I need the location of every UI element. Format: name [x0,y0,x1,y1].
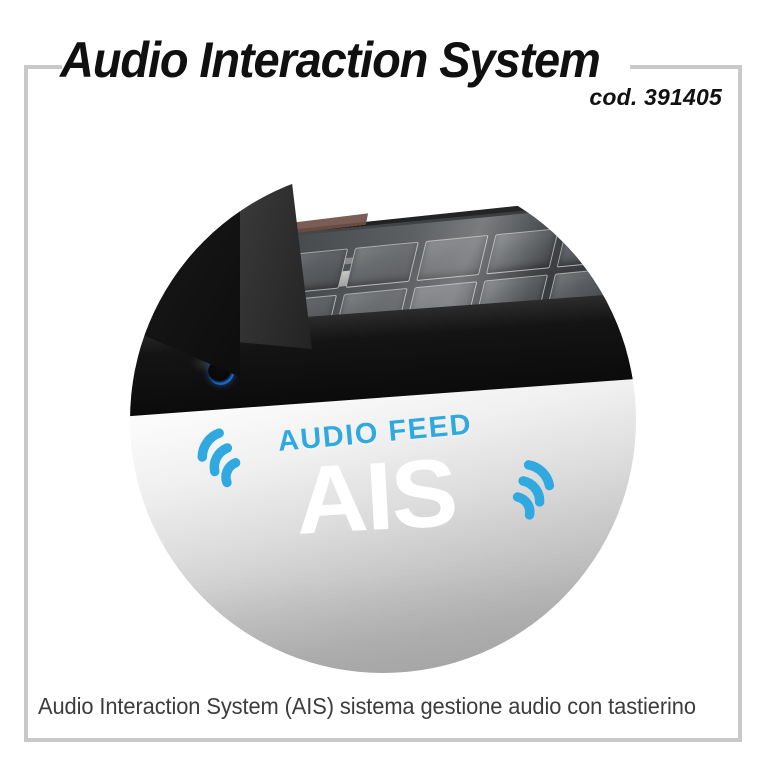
frame-bottom-line [24,738,742,742]
sound-wave-icon [164,411,257,504]
product-sheet-page: Audio Interaction System cod. 391405 [0,0,768,768]
ais-acronym: AIS [293,445,458,550]
frame-top-left-stub [24,65,62,69]
page-title: Audio Interaction System [60,35,600,85]
device-key [486,228,559,274]
device-key [345,242,418,288]
device-key [416,235,489,281]
frame-left-line [24,65,28,742]
frame-right-line [738,65,742,742]
product-caption: Audio Interaction System (AIS) sistema g… [38,693,696,720]
sound-wave-icon [494,441,587,534]
frame-top-right-stub [630,65,742,69]
product-code: cod. 391405 [589,84,722,111]
product-photo-content: AUDIO FEED AIS [130,167,636,673]
device-key [557,221,630,267]
product-photo: AUDIO FEED AIS [130,167,636,673]
